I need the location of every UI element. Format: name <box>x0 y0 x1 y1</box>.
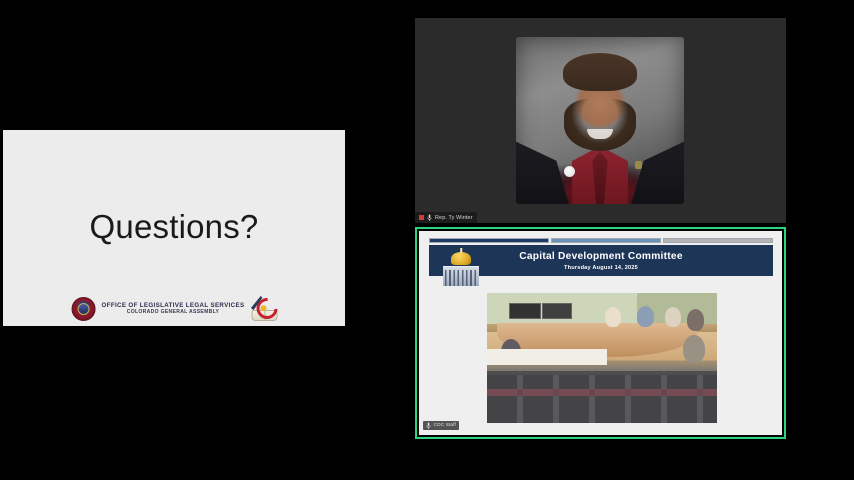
colorado-capitol-dome-icon <box>443 252 479 286</box>
room-audience-chairs <box>487 375 717 423</box>
capitol-dome <box>451 252 471 265</box>
org-name-block: Office of Legislative Legal Services Col… <box>102 303 245 316</box>
room-person <box>687 309 704 331</box>
avatar-beard <box>564 99 636 151</box>
slide-heading: Questions? <box>3 208 345 246</box>
colorado-c-quill-book-icon <box>250 297 276 321</box>
bar-segment-1 <box>429 238 549 243</box>
participant-name-bar: Rep. Ty Winter <box>415 212 477 223</box>
room-table-front <box>487 349 607 365</box>
bar-segment-3 <box>663 238 773 243</box>
room-person <box>637 306 654 327</box>
recording-indicator-icon <box>419 215 424 220</box>
shared-slide-questions[interactable]: Questions? Office of Legislative Legal S… <box>3 130 345 326</box>
presenter-name-bar: CDC Staff <box>423 421 459 430</box>
avatar-lapel-pin <box>564 166 575 177</box>
shared-presentation-slide: Capital Development Committee Thursday A… <box>419 231 782 435</box>
slide-section-bars <box>429 238 773 243</box>
org-name-secondary: Colorado General Assembly <box>102 310 245 315</box>
room-monitor-right <box>542 303 572 319</box>
room-monitor-left <box>509 303 541 319</box>
participant-name-label: Rep. Ty Winter <box>435 215 473 221</box>
slide-canvas: Questions? Office of Legislative Legal S… <box>3 130 345 326</box>
screen-share-tile[interactable]: Capital Development Committee Thursday A… <box>415 227 786 439</box>
committee-hearing-room-photo <box>487 293 717 423</box>
microphone-icon[interactable] <box>427 214 432 222</box>
microphone-icon[interactable] <box>426 422 431 430</box>
room-person <box>665 307 681 327</box>
capitol-building-base <box>443 266 479 286</box>
participant-video-tile[interactable]: Rep. Ty Winter <box>415 18 786 223</box>
presenter-name-label: CDC Staff <box>434 423 456 428</box>
committee-title: Capital Development Committee <box>519 251 683 262</box>
video-conference-screen: Questions? Office of Legislative Legal S… <box>0 0 854 480</box>
room-person <box>605 307 621 327</box>
meeting-date: Thursday August 14, 2025 <box>564 265 638 271</box>
bar-segment-2 <box>551 238 661 243</box>
legislative-seal-icon <box>72 297 96 321</box>
participant-portrait-avatar <box>516 37 684 204</box>
avatar-lapel-pin-secondary <box>635 161 642 169</box>
slide-title-banner: Capital Development Committee Thursday A… <box>429 245 773 276</box>
slide-footer-logo: Office of Legislative Legal Services Col… <box>72 297 277 321</box>
avatar-hair <box>563 53 637 91</box>
room-person <box>683 335 705 363</box>
